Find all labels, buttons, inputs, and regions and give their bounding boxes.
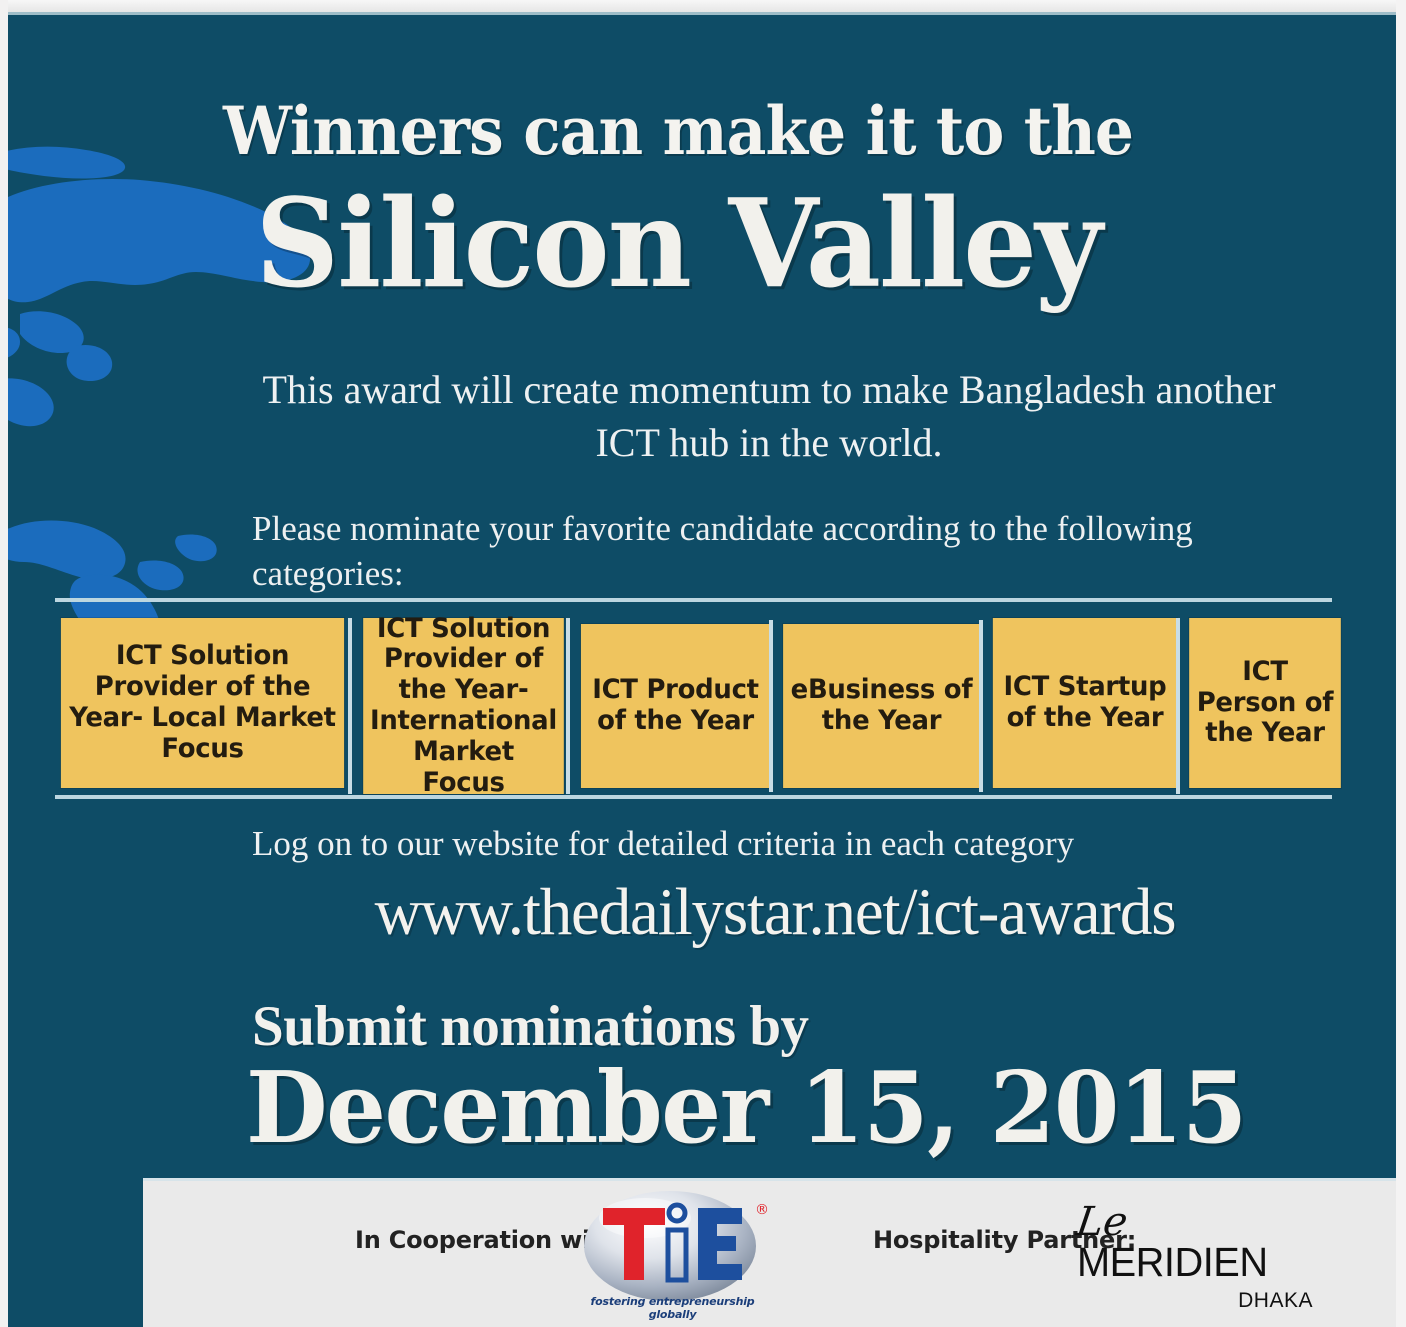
deadline-date: December 15, 2015	[246, 1060, 1246, 1158]
le-meridien-city: DHAKA	[1077, 1289, 1313, 1313]
award-lede-text: This award will create momentum to make …	[254, 364, 1284, 470]
partners-footer: In Cooperation with:	[143, 1178, 1396, 1327]
frame-top-border	[0, 0, 1406, 12]
le-meridien-script-le: Le	[1074, 1202, 1130, 1242]
headline-line-1: Winners can make it to the	[55, 98, 1301, 164]
frame-right-border	[1396, 0, 1406, 1327]
category-strip: ICT Solution Provider of the Year- Local…	[55, 608, 1332, 794]
nomination-instruction-text: Please nominate your favorite candidate …	[252, 507, 1212, 597]
website-url[interactable]: www.thedailystar.net/ict-awards	[256, 874, 1294, 951]
category-divider-5	[1176, 618, 1180, 794]
le-meridien-logo: LeMERIDIEN DHAKA	[1077, 1202, 1317, 1313]
category-box-4[interactable]: eBusiness of the Year	[783, 624, 980, 788]
category-rule-top	[55, 598, 1332, 602]
headline-line-2: Silicon Valley	[42, 182, 1315, 304]
deadline-prefix: Submit nominations by	[252, 994, 809, 1059]
category-box-1[interactable]: ICT Solution Provider of the Year- Local…	[61, 618, 344, 788]
category-divider-2	[566, 618, 570, 794]
tie-tagline: fostering entrepreneurship globally	[565, 1295, 780, 1321]
category-divider-4	[979, 620, 983, 792]
main-teal-panel: Winners can make it to the Silicon Valle…	[8, 12, 1396, 1178]
category-box-6[interactable]: ICT Person of the Year	[1189, 618, 1341, 788]
logon-instruction-text: Log on to our website for detailed crite…	[252, 824, 1292, 864]
footer-top-hairline	[143, 1178, 1396, 1181]
advertisement-poster: Winners can make it to the Silicon Valle…	[0, 0, 1406, 1327]
category-box-2[interactable]: ICT Solution Provider of the Year- Inter…	[363, 618, 564, 794]
category-divider-1	[348, 618, 352, 794]
svg-text:®: ®	[755, 1202, 769, 1218]
le-meridien-wordmark: MERIDIEN	[1077, 1242, 1268, 1283]
category-rule-bottom	[55, 795, 1332, 799]
category-divider-3	[769, 620, 773, 792]
category-box-3[interactable]: ICT Product of the Year	[581, 624, 770, 788]
frame-left-border	[0, 0, 8, 1327]
footer-left-teal-block	[8, 1178, 143, 1327]
category-box-5[interactable]: ICT Startup of the Year	[993, 618, 1177, 788]
